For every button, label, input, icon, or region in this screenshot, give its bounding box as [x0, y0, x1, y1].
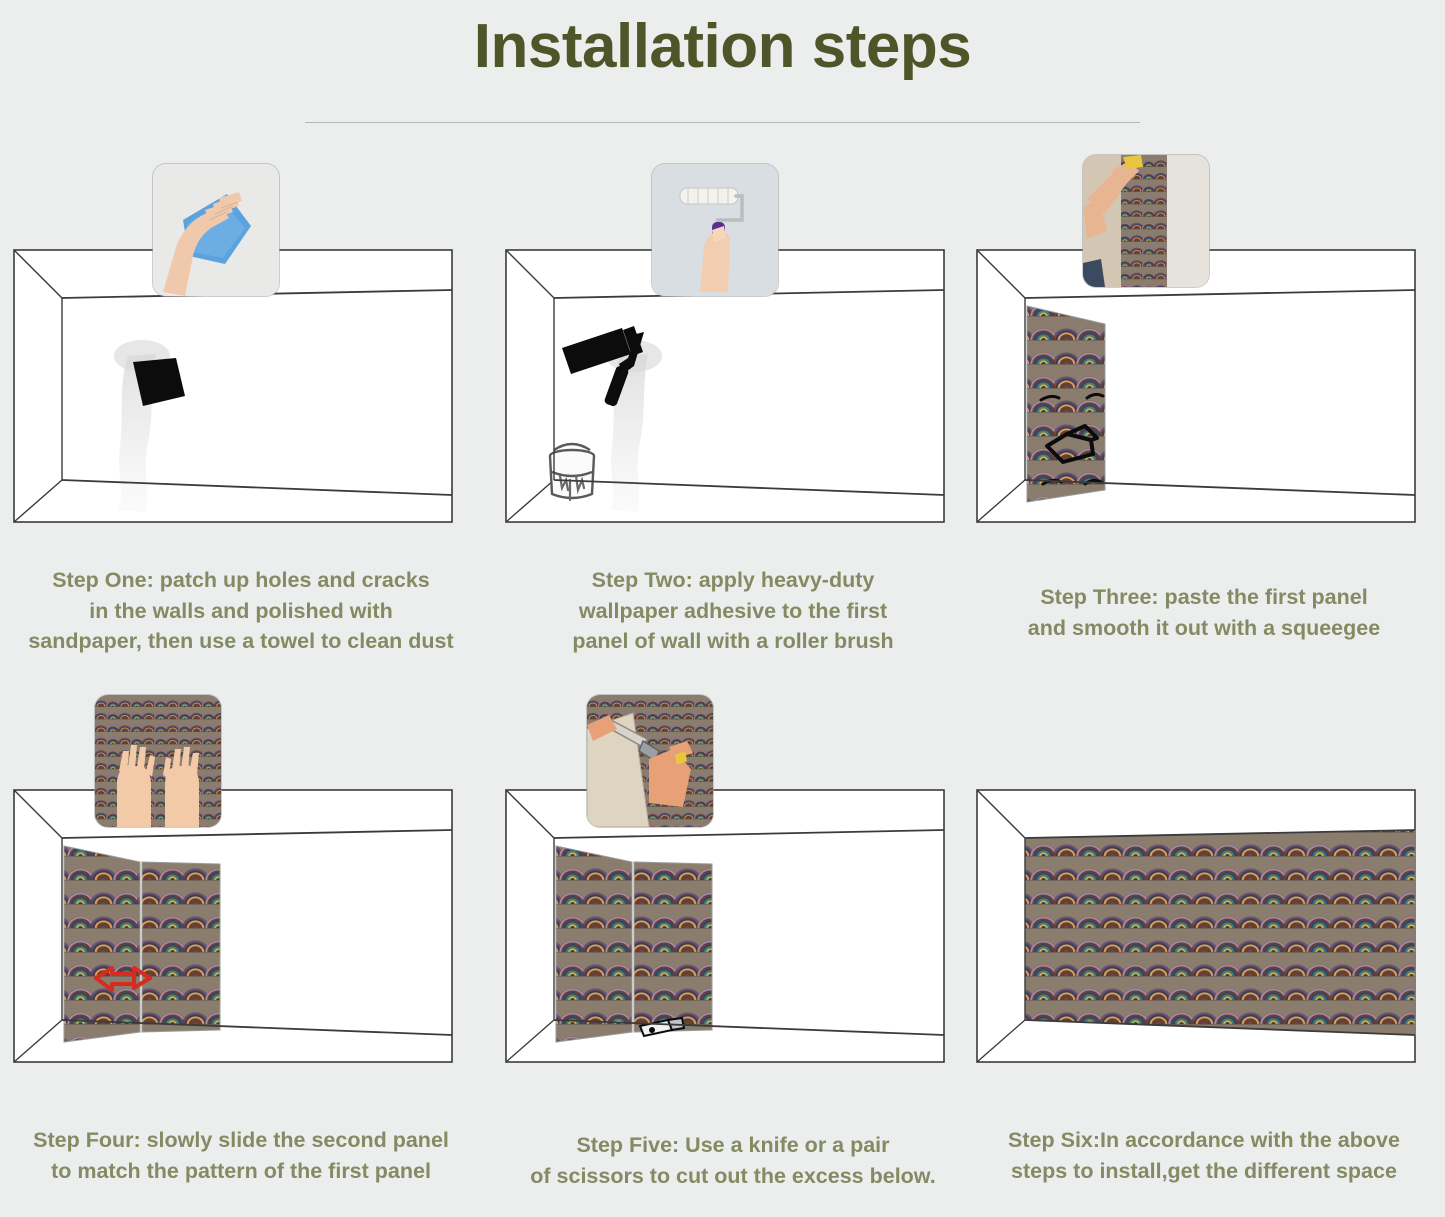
- step-card-four: Step Four: slowly slide the second panel…: [0, 690, 482, 1217]
- step-caption-two: Step Two: apply heavy-duty wallpaper adh…: [492, 565, 974, 657]
- step-card-three: Step Three: paste the first panel and sm…: [963, 150, 1445, 680]
- photo-inset-knife-cutting-wallpaper-edge: [587, 695, 713, 827]
- steps-grid: Step One: patch up holes and cracks in t…: [0, 150, 1445, 1210]
- photo-inset-paint-roller-on-wall: [652, 164, 778, 296]
- step-caption-one: Step One: patch up holes and cracks in t…: [0, 565, 482, 657]
- step-card-five: Step Five: Use a knife or a pair of scis…: [492, 690, 974, 1217]
- page-title: Installation steps: [0, 8, 1445, 86]
- step-card-two: Step Two: apply heavy-duty wallpaper adh…: [492, 150, 974, 680]
- title-divider: [305, 122, 1140, 123]
- room-diagram-four: [0, 690, 482, 1090]
- step-caption-three: Step Three: paste the first panel and sm…: [963, 582, 1445, 643]
- step-caption-five: Step Five: Use a knife or a pair of scis…: [492, 1130, 974, 1191]
- photo-inset-hand-wiping-wall-with-blue-towel: [153, 164, 279, 296]
- installation-steps-infographic: Installation steps: [0, 0, 1445, 1217]
- photo-inset-hands-applying-wallpaper-panel: [1083, 155, 1209, 287]
- step-card-one: Step One: patch up holes and cracks in t…: [0, 150, 482, 680]
- step-card-six: Step Six:In accordance with the above st…: [963, 690, 1445, 1217]
- photo-inset-two-hands-smoothing-wallpaper: [95, 695, 221, 827]
- step-caption-four: Step Four: slowly slide the second panel…: [0, 1125, 482, 1186]
- room-diagram-six: [963, 690, 1445, 1090]
- step-caption-six: Step Six:In accordance with the above st…: [963, 1125, 1445, 1186]
- room-diagram-five: [492, 690, 974, 1090]
